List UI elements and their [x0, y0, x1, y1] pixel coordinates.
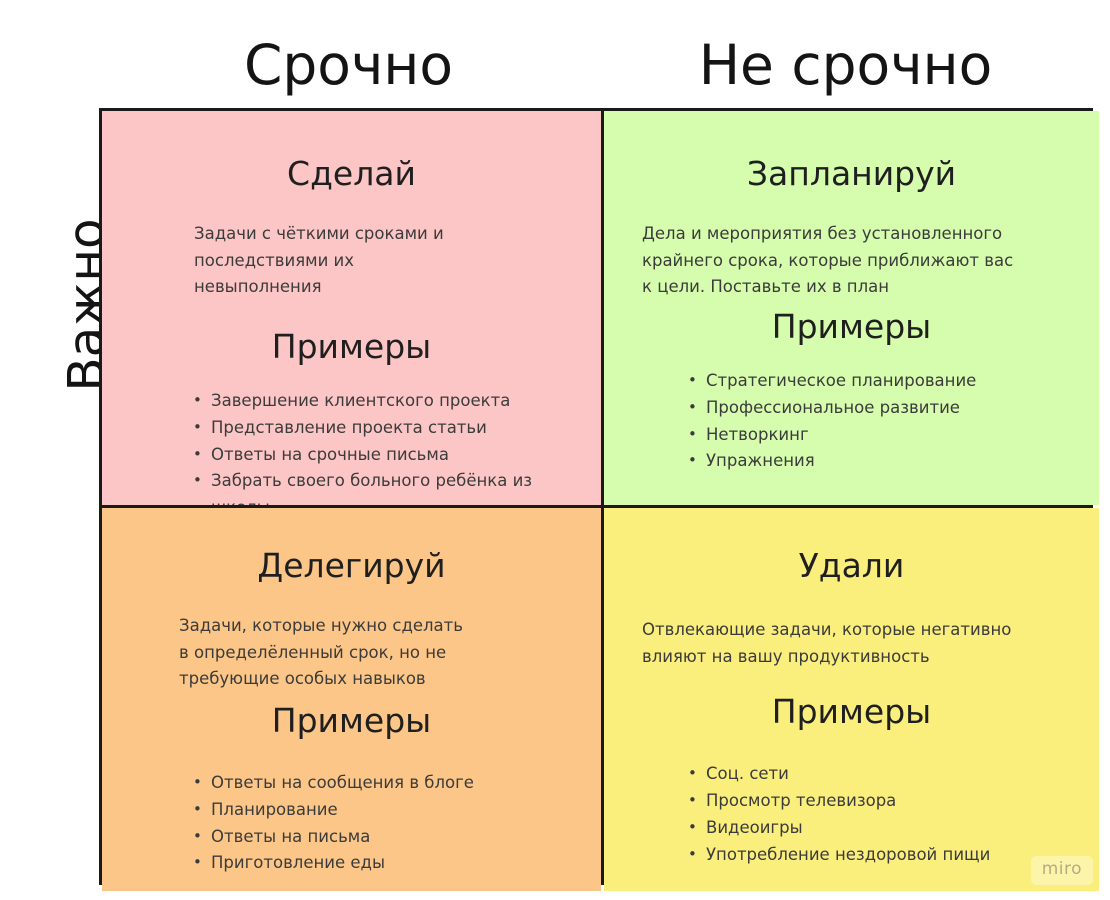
- list-item: Соц. сети: [686, 761, 1077, 788]
- list-item: Представление проекта статьи: [191, 415, 579, 442]
- quadrant-delete-title: Удали: [626, 546, 1077, 585]
- list-item: Нетворкинг: [686, 422, 1077, 449]
- list-item: Профессиональное развитие: [686, 395, 1077, 422]
- eisenhower-matrix-page: Срочно Не срочно Важно Не важно Сделай З…: [0, 0, 1110, 900]
- quadrant-schedule-examples-list: Стратегическое планирование Профессионал…: [626, 368, 1077, 475]
- quadrant-delegate[interactable]: Делегируй Задачи, которые нужно сделать …: [102, 508, 601, 891]
- column-header-not-urgent: Не срочно: [598, 26, 1093, 104]
- quadrant-delete-description: Отвлекающие задачи, которые негативно вл…: [626, 617, 1026, 670]
- column-header-urgent: Срочно: [99, 26, 598, 104]
- quadrant-delete[interactable]: Удали Отвлекающие задачи, которые негати…: [604, 508, 1099, 891]
- quadrant-delete-examples-heading: Примеры: [626, 692, 1077, 731]
- list-item: Стратегическое планирование: [686, 368, 1077, 395]
- row-label-important: Важно: [0, 108, 99, 502]
- quadrant-do-description: Задачи с чёткими сроками и последствиями…: [124, 221, 454, 301]
- list-item: Просмотр телевизора: [686, 788, 1077, 815]
- list-item: Упражнения: [686, 448, 1077, 475]
- quadrant-delegate-description: Задачи, которые нужно сделать в определё…: [124, 613, 469, 693]
- list-item: Забрать своего больного ребёнка из школы: [191, 468, 579, 505]
- list-item: Ответы на сообщения в блоге: [191, 770, 579, 797]
- quadrant-schedule-description: Дела и мероприятия без установленного кр…: [626, 221, 1021, 301]
- list-item: Ответы на письма: [191, 824, 579, 851]
- quadrant-delegate-title: Делегируй: [124, 546, 579, 585]
- quadrant-schedule-examples-heading: Примеры: [626, 307, 1077, 346]
- list-item: Видеоигры: [686, 815, 1077, 842]
- quadrant-do-examples-list: Завершение клиентского проекта Представл…: [124, 388, 579, 505]
- miro-watermark: miro: [1031, 856, 1093, 885]
- quadrant-delete-examples-list: Соц. сети Просмотр телевизора Видеоигры …: [626, 761, 1077, 868]
- quadrant-do-title: Сделай: [124, 154, 579, 193]
- quadrant-schedule-title: Запланируй: [626, 154, 1077, 193]
- quadrant-do[interactable]: Сделай Задачи с чёткими сроками и послед…: [102, 111, 601, 505]
- list-item: Приготовление еды: [191, 850, 579, 877]
- list-item: Планирование: [191, 797, 579, 824]
- quadrant-delegate-examples-heading: Примеры: [124, 701, 579, 740]
- list-item: Употребление нездоровой пищи: [686, 842, 1077, 869]
- row-label-not-important: Не важно: [0, 502, 99, 885]
- list-item: Завершение клиентского проекта: [191, 388, 579, 415]
- quadrant-grid: Сделай Задачи с чёткими сроками и послед…: [99, 108, 1093, 885]
- list-item: Ответы на срочные письма: [191, 442, 579, 469]
- quadrant-do-examples-heading: Примеры: [124, 327, 579, 366]
- quadrant-delegate-examples-list: Ответы на сообщения в блоге Планирование…: [124, 770, 579, 877]
- quadrant-schedule[interactable]: Запланируй Дела и мероприятия без устано…: [604, 111, 1099, 505]
